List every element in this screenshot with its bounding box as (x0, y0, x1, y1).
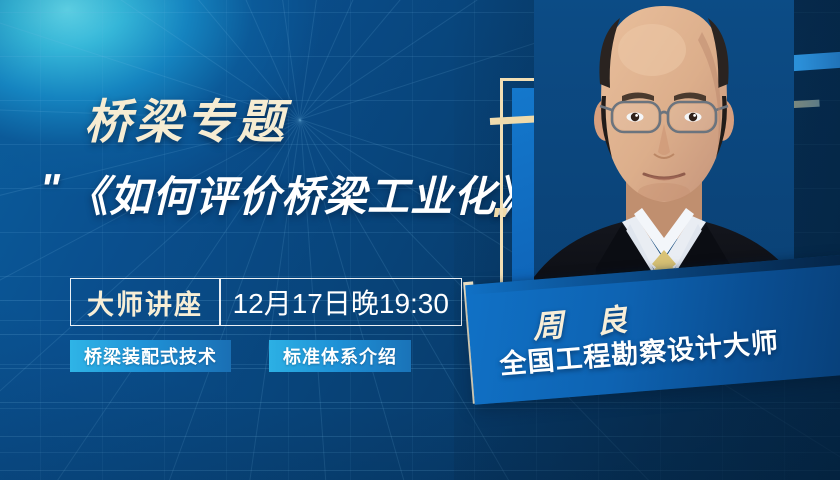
lecture-badge: 大师讲座 12月17日晚19:30 (70, 278, 462, 326)
quote-open-mark: " (40, 168, 60, 210)
speaker-composition: 周 良 全国工程勘察设计大师 (480, 0, 840, 480)
topic-tag[interactable]: 桥梁装配式技术 (70, 340, 231, 372)
topic-tag[interactable]: 标准体系介绍 (269, 340, 411, 372)
topic-tag-list: 桥梁装配式技术 标准体系介绍 (70, 340, 411, 372)
poster-canvas: " 桥梁专题 《如何评价桥梁工业化》 " 大师讲座 12月17日晚19:30 桥… (0, 0, 840, 480)
lecture-badge-label: 大师讲座 (71, 279, 219, 325)
lecture-datetime: 12月17日晚19:30 (221, 279, 461, 325)
poster-headline: 桥梁专题 (84, 98, 288, 145)
poster-subtitle: 《如何评价桥梁工业化》 (66, 176, 539, 218)
